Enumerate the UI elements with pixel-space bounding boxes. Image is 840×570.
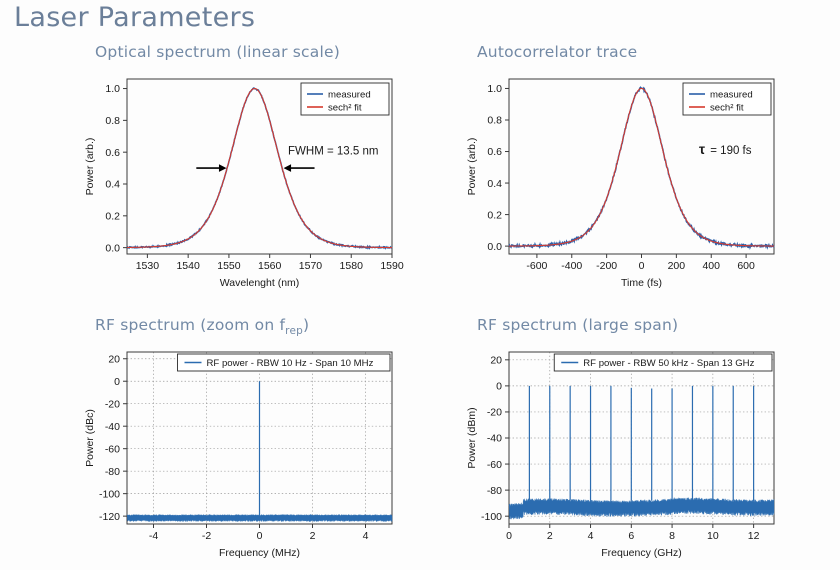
y-tick-label: 0.2 xyxy=(487,209,502,221)
y-tick-label: 0.2 xyxy=(105,211,120,223)
chart-rf-spectrum-large: 024681012200-20-40-60-80-100Frequency (G… xyxy=(397,338,817,570)
chart-autocorrelator-trace: -600-400-20002004006000.00.20.40.60.81.0… xyxy=(397,65,817,300)
y-tick-label: 1.0 xyxy=(487,83,502,95)
x-tick-label: 1530 xyxy=(136,260,160,272)
y-tick-label: 0.4 xyxy=(487,178,502,190)
y-tick-label: -100 xyxy=(481,511,502,523)
y-tick-label: -60 xyxy=(105,443,120,455)
panel-title-text: RF spectrum (large span) xyxy=(477,316,678,334)
x-tick-label: 2 xyxy=(310,530,316,542)
x-tick-label: -200 xyxy=(596,260,617,272)
y-tick-label: -100 xyxy=(99,488,120,500)
x-tick-label: 4 xyxy=(363,530,369,542)
y-tick-label: -40 xyxy=(487,433,502,445)
x-axis-label: Frequency (GHz) xyxy=(601,547,682,559)
y-axis-label: Power (arb.) xyxy=(84,138,96,196)
y-tick-label: -40 xyxy=(105,421,120,433)
x-tick-label: 1550 xyxy=(217,260,241,272)
panel-title-rf-spectrum-zoom: RF spectrum (zoom on frep) xyxy=(95,316,309,337)
y-tick-label: -80 xyxy=(487,485,502,497)
chart-legend: measuredsech² fit xyxy=(301,83,389,115)
fwhm-arrow-right-head xyxy=(284,164,292,172)
y-tick-label: 0 xyxy=(496,381,502,393)
y-tick-label: -20 xyxy=(105,398,120,410)
panel-title-text: Optical spectrum (linear scale) xyxy=(95,43,340,61)
figure-rf-spectrum-zoom: -4-2024200-20-40-60-80-100-120Frequency … xyxy=(15,338,435,570)
y-tick-label: 0.8 xyxy=(487,115,502,127)
y-tick-label: 0.0 xyxy=(487,241,502,253)
x-tick-label: 400 xyxy=(702,260,720,272)
x-tick-label: 0 xyxy=(506,530,512,542)
fwhm-label: FWHM = 13.5 nm xyxy=(288,146,378,158)
panel-title-subscript: rep xyxy=(285,325,303,337)
panel-title-text: Autocorrelator trace xyxy=(477,43,637,61)
x-tick-label: -600 xyxy=(526,260,547,272)
x-tick-label: 0 xyxy=(639,260,645,272)
y-axis-label: Power (arb.) xyxy=(466,138,478,196)
x-axis-label: Wavelenght (nm) xyxy=(220,277,300,289)
figure-optical-spectrum: 15301540155015601570158015900.00.20.40.6… xyxy=(15,65,435,300)
x-tick-label: 8 xyxy=(669,530,675,542)
y-tick-label: 0.6 xyxy=(487,146,502,158)
y-tick-label: -20 xyxy=(487,407,502,419)
y-tick-label: 1.0 xyxy=(105,83,120,95)
panel-title-optical-spectrum: Optical spectrum (linear scale) xyxy=(95,43,340,61)
chart-legend: RF power - RBW 50 kHz - Span 13 GHz xyxy=(554,354,772,371)
y-tick-label: 0.0 xyxy=(105,242,120,254)
panel-title-rf-spectrum-large: RF spectrum (large span) xyxy=(477,316,678,334)
chart-legend: measuredsech² fit xyxy=(683,83,771,115)
x-tick-label: 2 xyxy=(547,530,553,542)
panel-rf-spectrum-large: RF spectrum (large span) 024681012200-20… xyxy=(477,316,837,568)
x-tick-label: 12 xyxy=(748,530,760,542)
legend-label: sech² fit xyxy=(710,102,744,113)
y-tick-label: 20 xyxy=(108,353,120,365)
x-axis-label: Time (fs) xyxy=(621,277,662,289)
y-tick-label: -80 xyxy=(105,466,120,478)
tau-symbol: τ xyxy=(699,142,705,157)
panel-title-autocorrelator-trace: Autocorrelator trace xyxy=(477,43,637,61)
y-tick-label: 0.4 xyxy=(105,179,120,191)
figure-autocorrelator-trace: -600-400-20002004006000.00.20.40.60.81.0… xyxy=(397,65,817,300)
x-tick-label: 1560 xyxy=(258,260,282,272)
noise-floor-trace xyxy=(127,515,392,522)
y-tick-label: 0.8 xyxy=(105,115,120,127)
x-tick-label: 10 xyxy=(707,530,719,542)
fwhm-arrow-left-head xyxy=(219,164,227,172)
panel-autocorrelator-trace: Autocorrelator trace -600-400-2000200400… xyxy=(477,43,837,298)
x-tick-label: 1570 xyxy=(299,260,323,272)
page-title: Laser Parameters xyxy=(14,2,255,33)
x-axis-label: Frequency (MHz) xyxy=(219,547,300,559)
y-tick-label: -60 xyxy=(487,459,502,471)
legend-label: sech² fit xyxy=(328,102,362,113)
x-tick-label: 1580 xyxy=(340,260,364,272)
y-tick-label: 20 xyxy=(490,355,502,367)
chart-legend: RF power - RBW 10 Hz - Span 10 MHz xyxy=(178,354,391,371)
x-tick-label: 6 xyxy=(628,530,634,542)
panel-title-text-post: ) xyxy=(303,316,309,334)
chart-optical-spectrum: 15301540155015601570158015900.00.20.40.6… xyxy=(15,65,435,300)
figure-rf-spectrum-large: 024681012200-20-40-60-80-100Frequency (G… xyxy=(397,338,817,570)
pulse-duration-label: τ = 190 fs xyxy=(699,142,752,157)
x-tick-label: -4 xyxy=(149,530,158,542)
legend-label: measured xyxy=(710,89,753,100)
y-axis-label: Power (dBm) xyxy=(466,407,478,468)
legend-label: RF power - RBW 10 Hz - Span 10 MHz xyxy=(207,358,374,369)
x-tick-label: 200 xyxy=(668,260,686,272)
x-tick-label: -2 xyxy=(202,530,211,542)
slide-root: Laser Parameters Optical spectrum (linea… xyxy=(0,0,840,568)
x-tick-label: -400 xyxy=(561,260,582,272)
legend-label: measured xyxy=(328,89,371,100)
chart-rf-spectrum-zoom: -4-2024200-20-40-60-80-100-120Frequency … xyxy=(15,338,435,570)
x-tick-label: 0 xyxy=(257,530,263,542)
y-tick-label: 0 xyxy=(114,376,120,388)
panel-title-text-pre: RF spectrum (zoom on f xyxy=(95,316,285,334)
y-tick-label: 0.6 xyxy=(105,147,120,159)
y-tick-label: -120 xyxy=(99,511,120,523)
y-axis-label: Power (dBc) xyxy=(84,409,96,467)
x-tick-label: 4 xyxy=(588,530,594,542)
x-tick-label: 600 xyxy=(737,260,755,272)
x-tick-label: 1540 xyxy=(176,260,200,272)
legend-label: RF power - RBW 50 kHz - Span 13 GHz xyxy=(583,358,754,369)
